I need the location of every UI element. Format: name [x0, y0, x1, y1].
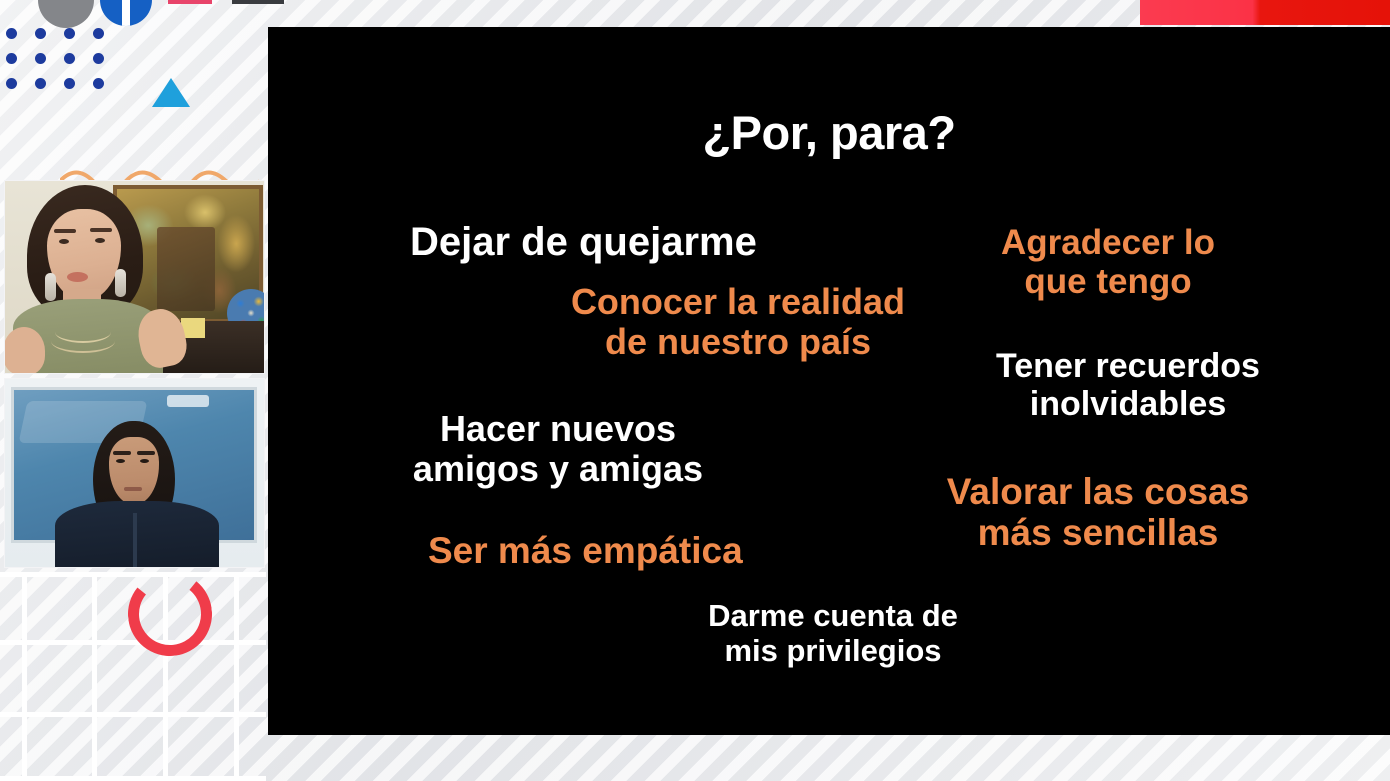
screen-share-view: ¿Por, para? Dejar de quejarme Conocer la…	[0, 0, 1390, 781]
dot-grid-decoration	[6, 28, 130, 90]
slide-bullet-8: Darme cuenta de mis privilegios	[668, 599, 998, 668]
participant-video-1[interactable]	[4, 180, 265, 374]
presentation-slide: ¿Por, para? Dejar de quejarme Conocer la…	[268, 27, 1390, 735]
slide-bullet-6: Valorar las cosas más sencillas	[898, 471, 1298, 554]
pink-bar-shape	[168, 0, 212, 4]
slide-bullet-5: Hacer nuevos amigos y amigas	[368, 409, 748, 490]
blue-circle-shape	[100, 0, 152, 26]
slide-bullet-2: Conocer la realidad de nuestro país	[538, 282, 938, 363]
triangle-decoration	[152, 78, 190, 107]
slide-bullet-1: Dejar de quejarme	[410, 220, 757, 265]
gray-circle-shape	[38, 0, 94, 28]
slide-bullet-4: Tener recuerdos inolvidables	[958, 347, 1298, 423]
participant-video-2[interactable]	[4, 378, 265, 568]
slide-bullet-7: Ser más empática	[428, 530, 743, 571]
slide-bullet-3: Agradecer lo que tengo	[968, 223, 1248, 301]
red-band-shape	[1140, 0, 1390, 25]
dark-bar-shape	[232, 0, 284, 4]
slide-title: ¿Por, para?	[268, 105, 1390, 160]
